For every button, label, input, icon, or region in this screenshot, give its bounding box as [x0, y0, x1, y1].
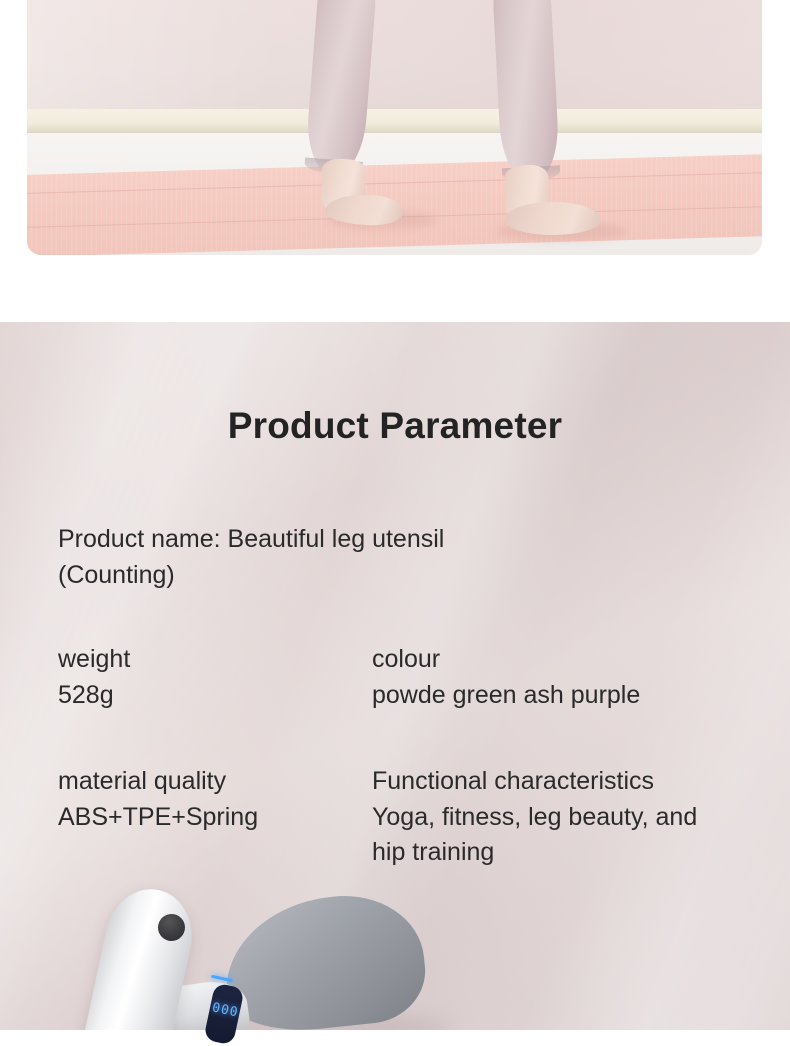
hero-photo-legs-on-yoga-mat — [27, 0, 762, 255]
specification-grid: weight 528g colour powde green ash purpl… — [0, 642, 790, 871]
photo-foot-right — [505, 201, 602, 236]
product-parameter-section: Product Parameter Product name: Beautifu… — [0, 322, 790, 1030]
spec-cell-functional-characteristics: Functional characteristics Yoga, fitness… — [357, 764, 732, 871]
spec-row: weight 528g colour powde green ash purpl… — [0, 642, 790, 713]
page-title: Product Parameter — [0, 405, 790, 447]
spec-row: material quality ABS+TPE+Spring Function… — [0, 764, 790, 871]
product-name-text: Product name: Beautiful leg utensil (Cou… — [58, 522, 528, 593]
spec-cell-colour: colour powde green ash purple — [357, 642, 732, 713]
spec-value-material: ABS+TPE+Spring — [58, 800, 357, 836]
spec-label-weight: weight — [58, 642, 357, 678]
spec-label-colour: colour — [372, 642, 732, 678]
spec-cell-material: material quality ABS+TPE+Spring — [0, 764, 357, 871]
device-handle — [77, 881, 201, 1030]
spec-cell-weight: weight 528g — [0, 642, 357, 713]
photo-baseboard — [27, 109, 762, 134]
spec-value-weight: 528g — [58, 678, 357, 714]
spec-value-functional-characteristics: Yoga, fitness, leg beauty, and hip train… — [372, 800, 732, 871]
photo-wall-shading — [27, 0, 762, 111]
device-photo — [0, 880, 790, 1030]
device-grey-pad — [218, 888, 430, 1030]
spec-label-material: material quality — [58, 764, 357, 800]
spec-value-colour: powde green ash purple — [372, 678, 732, 714]
device-ground-shadow — [120, 1012, 450, 1030]
spec-label-functional-characteristics: Functional characteristics — [372, 764, 732, 800]
device-port-icon — [155, 911, 187, 943]
